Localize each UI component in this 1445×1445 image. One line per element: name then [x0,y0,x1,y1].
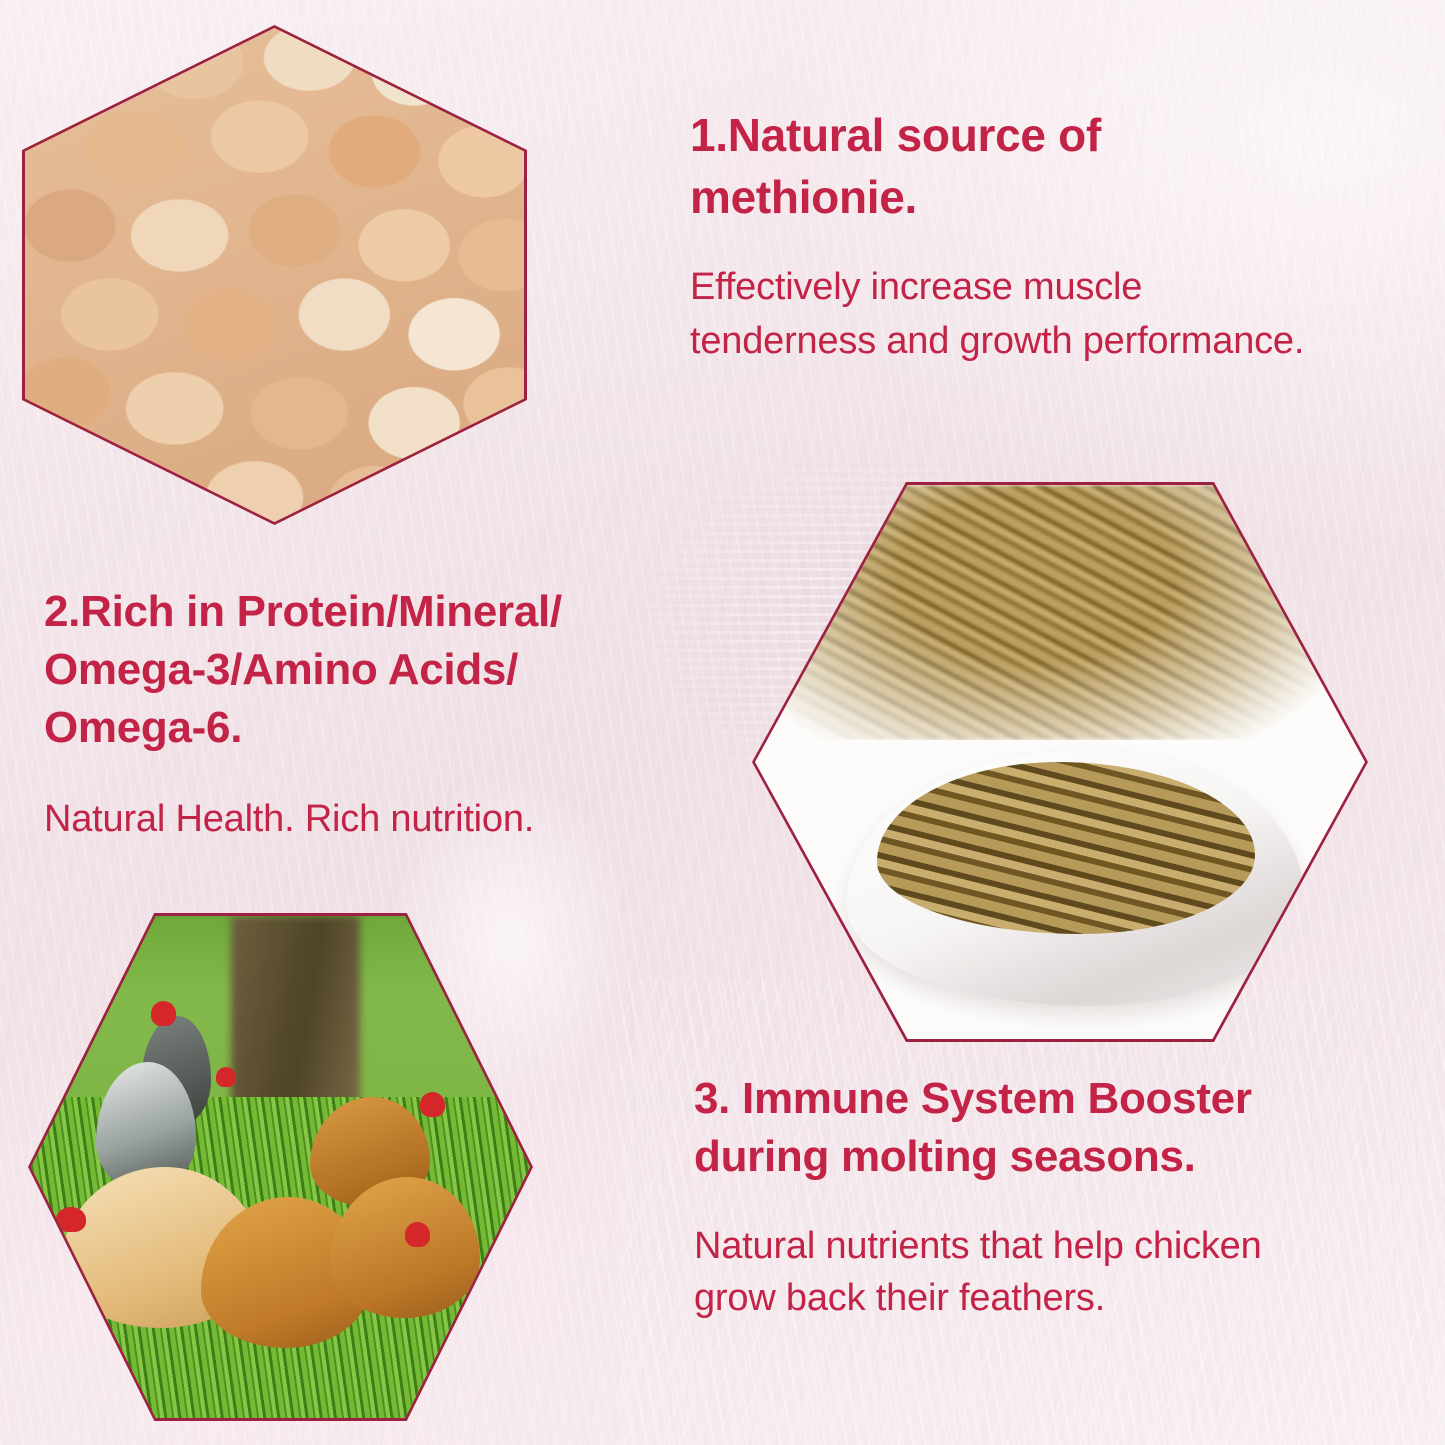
hen-comb [420,1092,445,1117]
chickens-photo [31,916,530,1418]
eggs-hexagon-image [22,25,527,525]
body-line: Effectively increase muscle [690,260,1432,314]
mealworms-photo [755,485,1365,1039]
mealworms-hexagon-clip [755,485,1365,1039]
eggs-hexagon-clip [25,28,524,522]
mealworm-pile [767,485,1353,740]
heading-line: 2.Rich in Protein/Mineral/ [44,583,704,641]
body-line: Natural Health. Rich nutrition. [44,793,704,845]
body-line: grow back their feathers. [694,1272,1410,1324]
body-line: tenderness and growth performance. [690,314,1432,368]
heading-line: methionie. [690,166,1432,228]
feature-body-nutrition: Natural Health. Rich nutrition. [44,793,704,845]
mealworms-hexagon-image [752,482,1368,1042]
feature-block-nutrition: 2.Rich in Protein/Mineral/ Omega-3/Amino… [44,583,704,845]
feature-heading-immune: 3. Immune System Booster during molting … [694,1070,1410,1186]
feature-block-immune: 3. Immune System Booster during molting … [694,1070,1410,1324]
feature-heading-methionine: 1.Natural source of methionie. [690,104,1432,228]
feature-block-methionine: 1.Natural source of methionie. Effective… [690,104,1432,368]
heading-line: Omega-6. [44,699,704,757]
feature-body-methionine: Effectively increase muscle tenderness a… [690,260,1432,368]
hen-comb [151,1001,176,1026]
hen-comb [216,1067,236,1087]
body-line: Natural nutrients that help chicken [694,1220,1410,1272]
heading-line: 1.Natural source of [690,104,1432,166]
product-feature-infographic: 1.Natural source of methionie. Effective… [0,0,1445,1445]
tree-trunk [231,916,361,1127]
heading-line: during molting seasons. [694,1128,1410,1186]
heading-line: 3. Immune System Booster [694,1070,1410,1128]
feature-body-immune: Natural nutrients that help chicken grow… [694,1220,1410,1324]
feature-heading-nutrition: 2.Rich in Protein/Mineral/ Omega-3/Amino… [44,583,704,757]
heading-line: Omega-3/Amino Acids/ [44,641,704,699]
hen-comb [405,1222,430,1247]
chickens-hexagon-clip [31,916,530,1418]
chickens-hexagon-image [28,913,533,1421]
eggs-photo [25,28,524,522]
